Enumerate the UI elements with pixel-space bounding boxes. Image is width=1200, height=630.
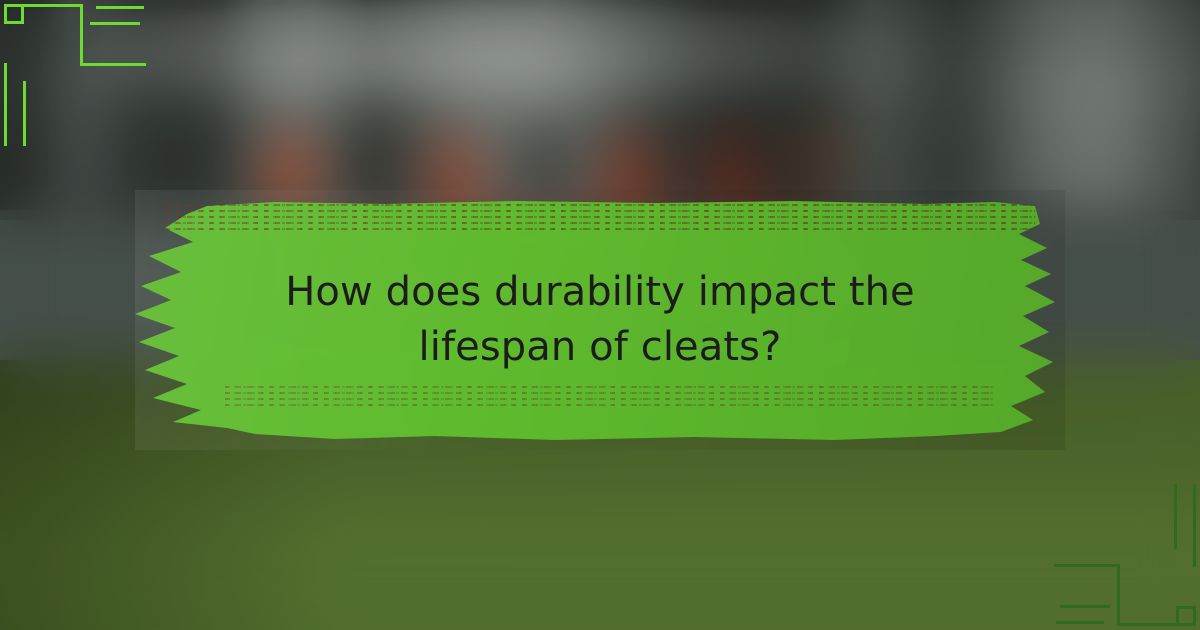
bracket-line-v2 [1193, 484, 1196, 567]
bracket-line-h2 [80, 63, 146, 66]
bracket-square-icon [4, 4, 24, 24]
bracket-line-h1 [21, 4, 83, 7]
bracket-line-v1 [80, 4, 83, 66]
social-share-card: How does durability impact the lifespan … [0, 0, 1200, 630]
bracket-line-v2 [4, 63, 7, 146]
bottom-right-corner-bracket [1030, 460, 1200, 630]
bracket-square-icon [1176, 606, 1196, 626]
bracket-line-h3 [1060, 605, 1110, 608]
bracket-line-h4 [96, 6, 144, 9]
bracket-line-v3 [1174, 484, 1177, 549]
bracket-line-v1 [1117, 564, 1120, 626]
page-title: How does durability impact the lifespan … [230, 265, 970, 375]
headline-container: How does durability impact the lifespan … [135, 190, 1065, 450]
bracket-line-h4 [1056, 621, 1104, 624]
bracket-line-h2 [1054, 564, 1120, 567]
bracket-line-h1 [1117, 623, 1179, 626]
bracket-line-h3 [90, 22, 140, 25]
bracket-line-v3 [23, 81, 26, 146]
top-left-corner-bracket [0, 0, 170, 170]
